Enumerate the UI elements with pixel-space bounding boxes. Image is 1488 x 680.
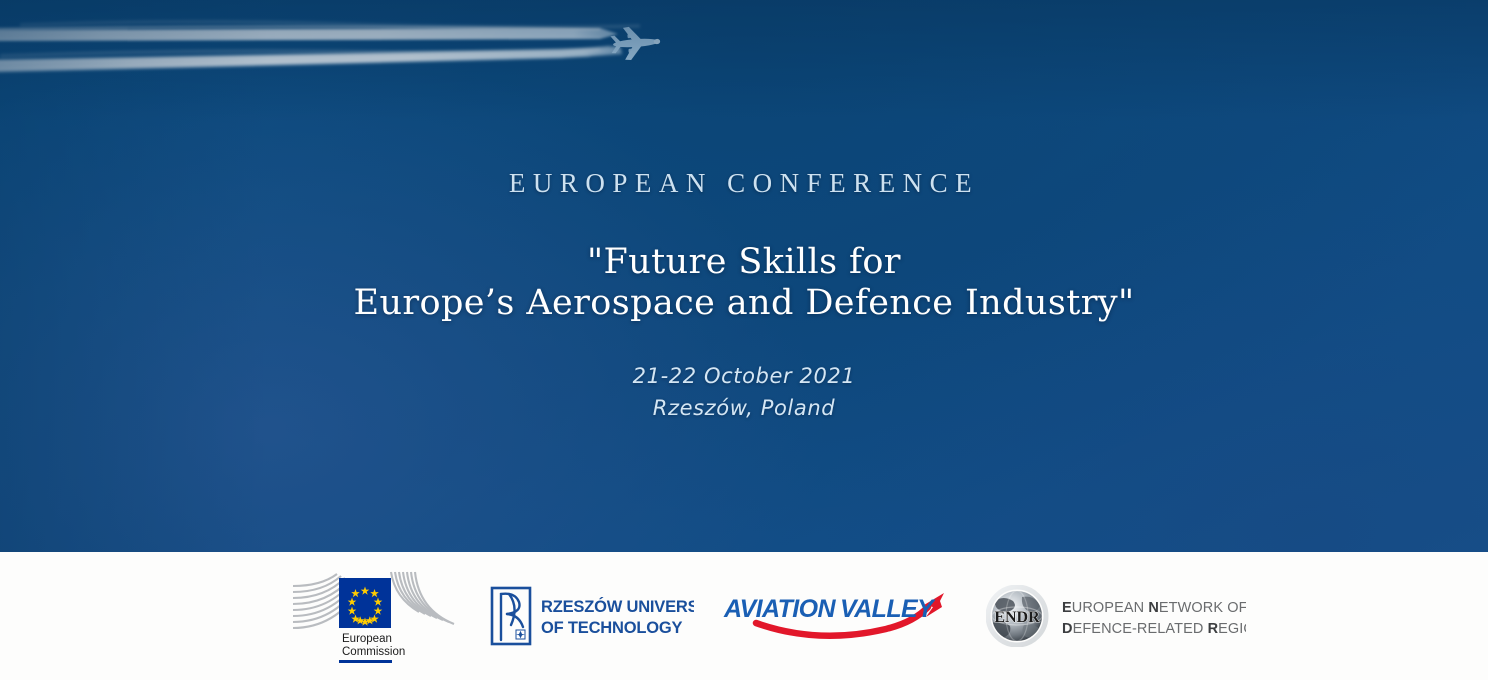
endr-line2-initial-d: D [1062,621,1073,637]
logo-aviation-valley[interactable]: AVIATION VALLEY [718,587,951,645]
av-word-valley: VALLEY [840,595,936,623]
endr-line2-rest2: EGIONS [1218,621,1246,637]
ec-swoosh-right [391,572,454,624]
partner-logo-strip: European Commission [0,552,1488,680]
endr-line2-rest: EFENCE-RELATED [1073,621,1208,637]
conference-eyebrow: EUROPEAN CONFERENCE [509,168,979,199]
endr-line1-rest: UROPEAN [1072,600,1149,616]
conference-location: Rzeszów, Poland [633,392,856,424]
ec-underline-bar [339,660,392,663]
rut-wordmark-line2: OF TECHNOLOGY [541,619,683,637]
rut-cross-emblem [516,630,525,639]
endr-line1-rest2: ETWORK OF [1159,600,1246,616]
endr-line1-initial-n: N [1148,600,1159,616]
conference-date: 21-22 October 2021 [633,360,856,392]
av-word-aviation: AVIATION [723,595,836,623]
logo-endr[interactable]: ENDR EUROPEAN NETWORK OF DEFENCE-RELATED… [986,585,1246,647]
conference-title: "Future Skills for Europe’s Aerospace an… [354,242,1135,324]
title-line-2: Europe’s Aerospace and Defence Industry" [354,283,1135,324]
endr-line1-initial-e: E [1062,600,1072,616]
conference-meta: 21-22 October 2021 Rzeszów, Poland [633,360,856,424]
headline-block: EUROPEAN CONFERENCE "Future Skills for E… [0,0,1488,552]
endr-emblem-text: ENDR [994,609,1040,626]
logo-european-commission[interactable]: European Commission [291,566,459,666]
rut-wordmark-line1: RZESZÓW UNIVERSITY [541,597,694,616]
ec-wordmark-line2: Commission [342,646,405,658]
title-line-1: "Future Skills for [354,242,1135,283]
endr-wordmark-line2: DEFENCE-RELATED REGIONS [1062,621,1246,637]
conference-title-slide: EUROPEAN CONFERENCE "Future Skills for E… [0,0,1488,680]
logo-rail: European Commission [291,566,1246,666]
ec-wordmark-line1: European [342,633,392,645]
logo-rzeszow-university-of-technology[interactable]: RZESZÓW UNIVERSITY OF TECHNOLOGY [489,585,694,647]
endr-line2-initial-r: R [1208,621,1219,637]
endr-wordmark-line1: EUROPEAN NETWORK OF [1062,600,1246,616]
